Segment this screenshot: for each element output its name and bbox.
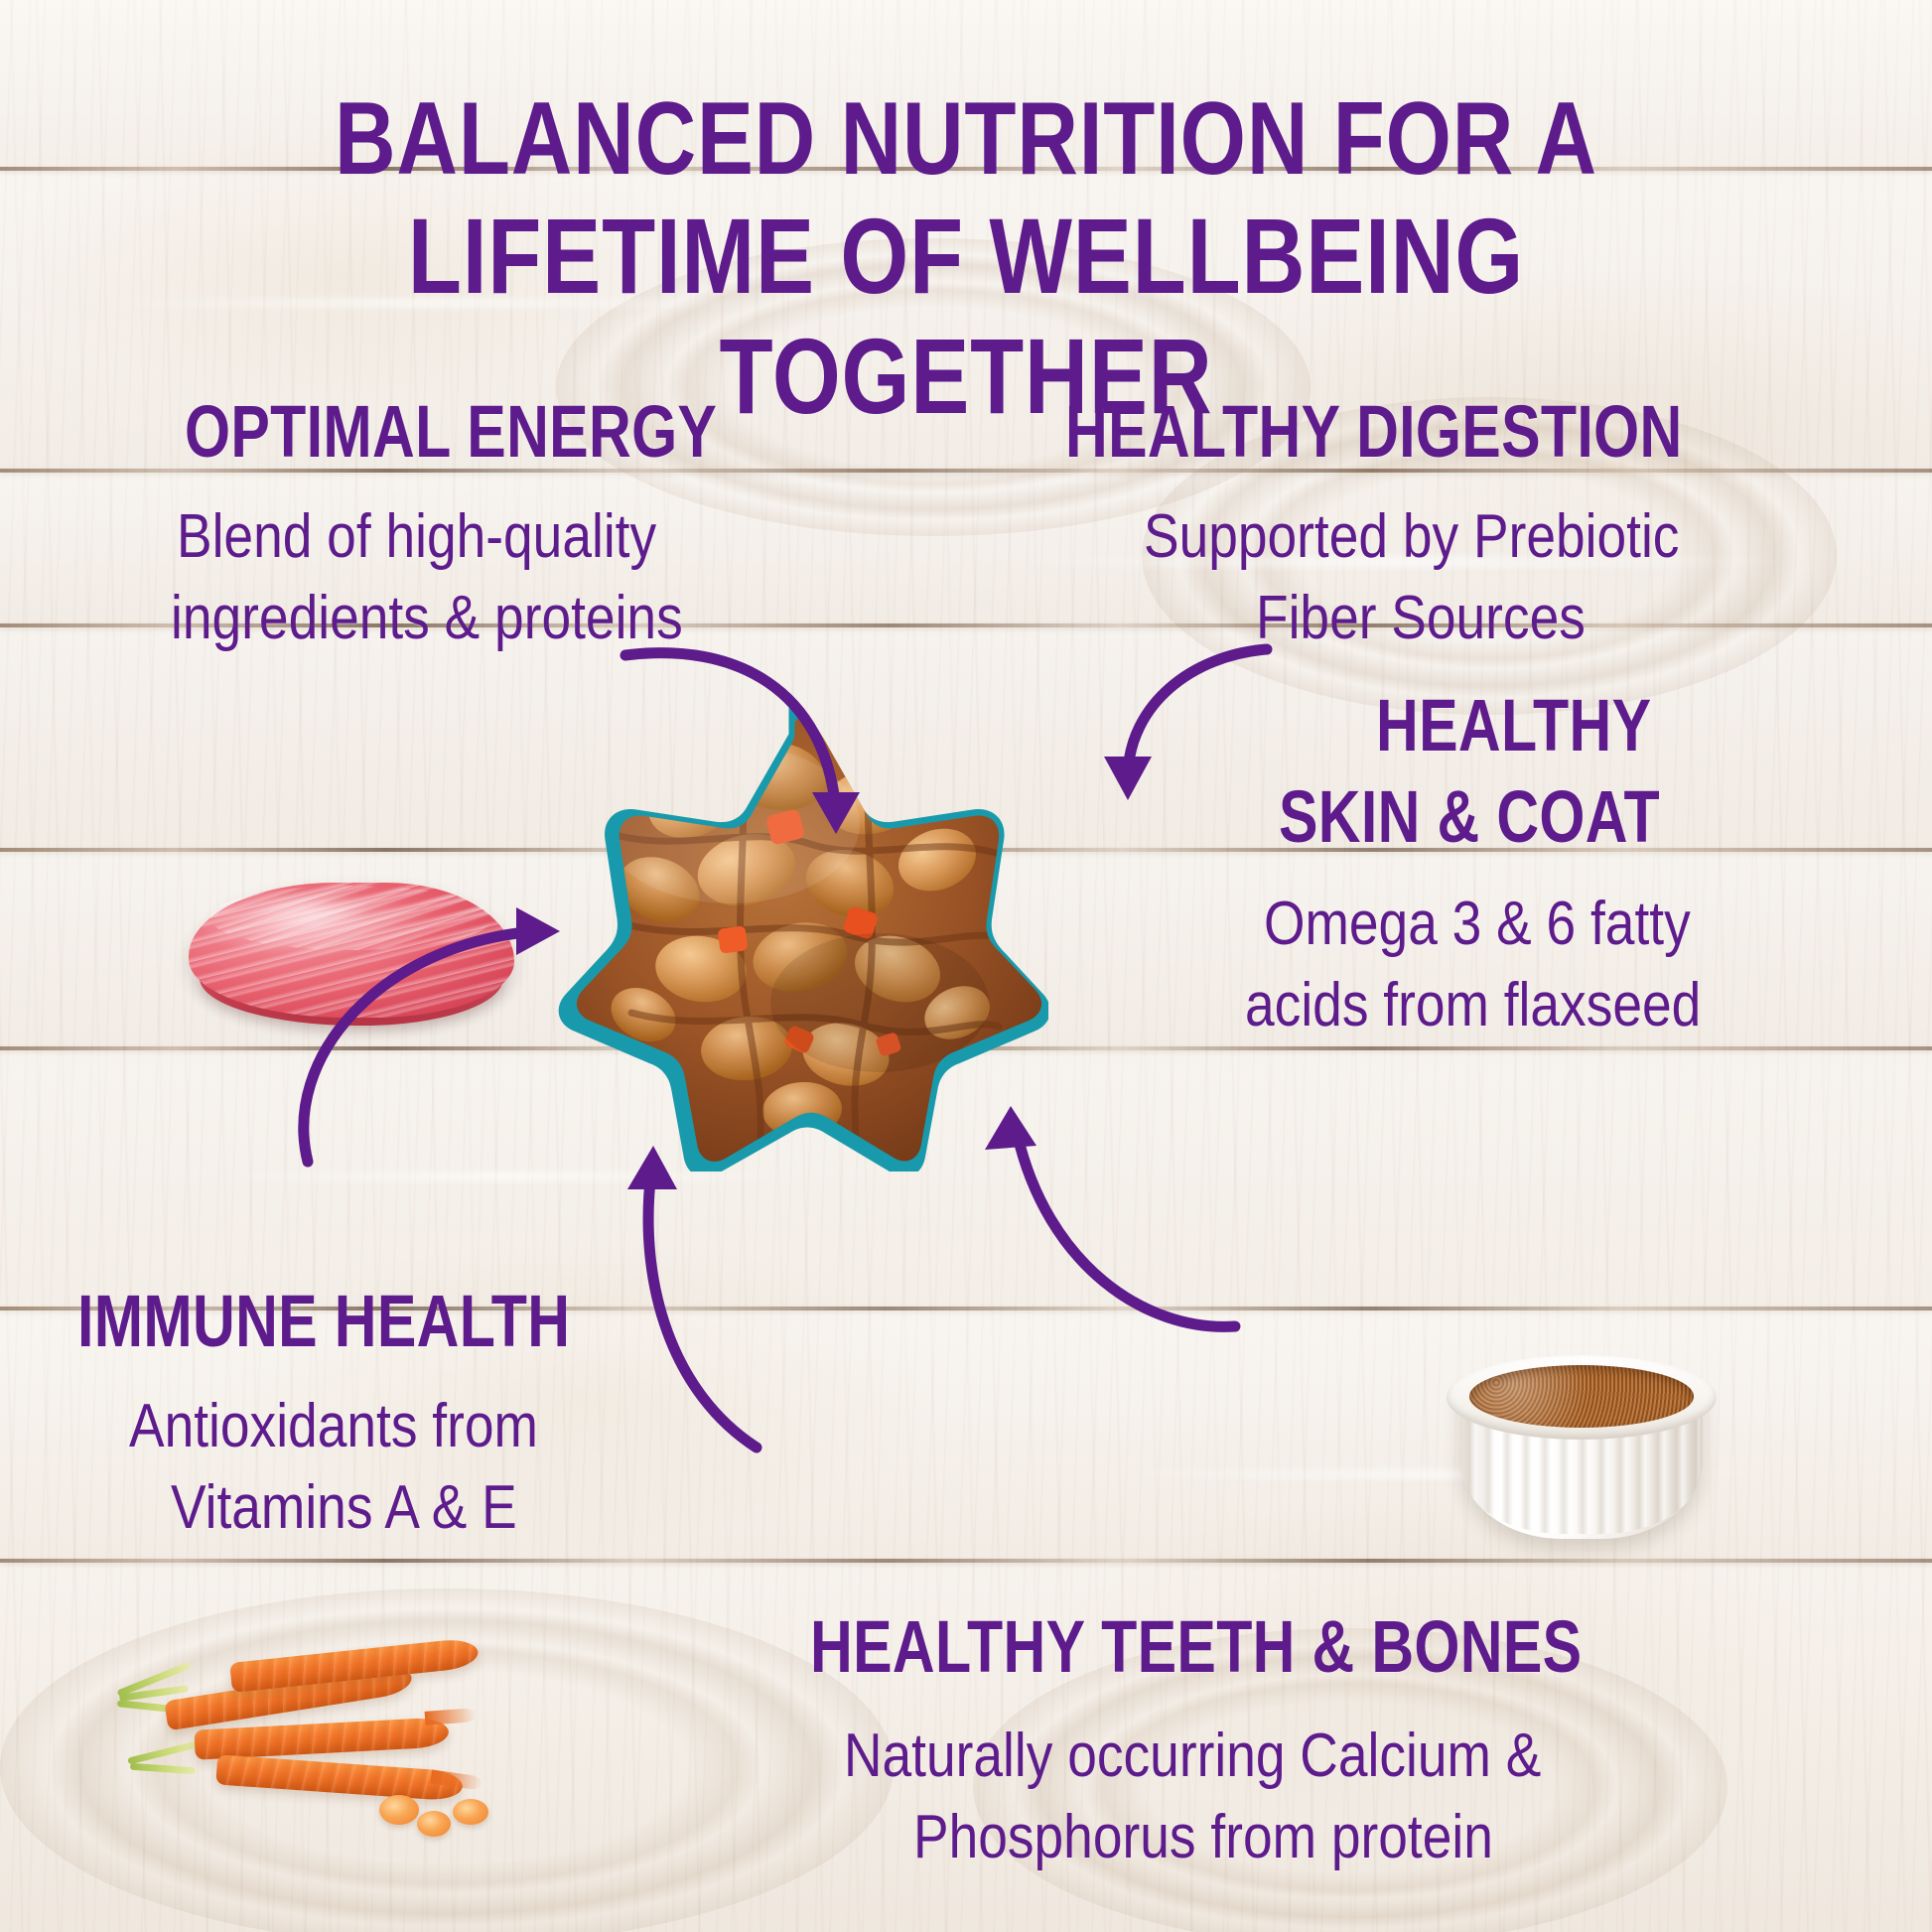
tuna-steak-highlight	[245, 894, 372, 931]
carrot	[215, 1754, 463, 1801]
carrot-slice	[453, 1799, 488, 1825]
page-title: BALANCED NUTRITION FOR A LIFETIME OF WEL…	[0, 81, 1932, 437]
flaxseed-ramekin-illustration	[1438, 1311, 1725, 1559]
benefit-body-optimal-energy-line-2: ingredients & proteins	[171, 584, 683, 652]
infographic-canvas: BALANCED NUTRITION FOR A LIFETIME OF WEL…	[0, 0, 1932, 1932]
center-food-star	[552, 685, 1048, 1172]
benefit-heading-healthy-skin-and-coat-line-2: SKIN & COAT	[1279, 780, 1660, 854]
benefit-body-healthy-skin-and-coat-line-2: acids from flaxseed	[1245, 971, 1701, 1039]
benefit-body-healthy-digestion-line-2: Fiber Sources	[1256, 584, 1586, 652]
benefit-body-immune-health-line-1: Antioxidants from	[129, 1392, 538, 1460]
paint-streak	[199, 1172, 814, 1181]
star-food-graphic	[552, 685, 1048, 1172]
benefit-heading-optimal-energy: OPTIMAL ENERGY	[185, 395, 717, 469]
benefit-body-healthy-teeth-and-bones-line-1: Naturally occurring Calcium &	[844, 1722, 1541, 1790]
benefit-body-optimal-energy-line-1: Blend of high-quality	[177, 502, 656, 571]
benefit-heading-healthy-skin-and-coat-line-1: HEALTHY	[1376, 689, 1651, 762]
carrot-tip	[425, 1708, 478, 1725]
benefit-body-healthy-teeth-and-bones-line-2: Phosphorus from protein	[913, 1803, 1493, 1871]
carrot-slice	[379, 1795, 419, 1825]
benefit-body-immune-health-line-2: Vitamins A & E	[171, 1473, 517, 1542]
title-line-1: BALANCED NUTRITION FOR A	[174, 81, 1758, 197]
benefit-heading-healthy-digestion: HEALTHY DIGESTION	[1065, 395, 1683, 469]
benefit-body-healthy-digestion-line-1: Supported by Prebiotic	[1144, 502, 1679, 571]
benefit-heading-immune-health: IMMUNE HEALTH	[77, 1285, 570, 1358]
carrot	[194, 1717, 449, 1759]
carrot-slice	[417, 1811, 451, 1837]
benefit-heading-healthy-teeth-and-bones: HEALTHY TEETH & BONES	[810, 1610, 1582, 1684]
benefit-body-healthy-skin-and-coat-line-1: Omega 3 & 6 fatty	[1264, 890, 1691, 958]
ground-flaxseed	[1469, 1365, 1694, 1428]
carrots-illustration	[109, 1579, 506, 1876]
tuna-steak-illustration	[175, 856, 528, 1044]
